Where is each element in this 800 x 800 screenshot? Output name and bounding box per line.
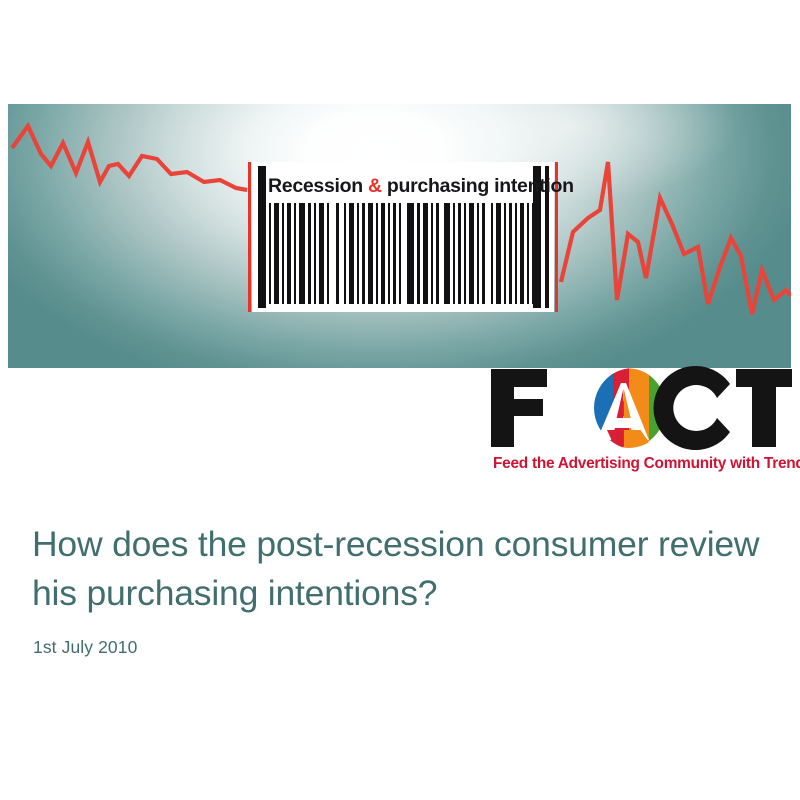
trend-line-left — [12, 126, 247, 190]
letter-f — [491, 369, 547, 447]
title-block: How does the post-recession consumer rev… — [32, 520, 762, 658]
barcode-graphic: Recession & purchasing intention — [246, 162, 560, 312]
trend-line-right — [561, 162, 791, 314]
barcode-heading: Recession & purchasing intention — [268, 171, 540, 201]
barcode-left-edge-line — [248, 162, 251, 312]
fact-tagline: Feed the Advertising Community with Tren… — [493, 454, 793, 474]
presentation-date: 1st July 2010 — [33, 636, 762, 658]
barcode-heading-left: Recession — [268, 175, 363, 197]
fact-logo: Feed the Advertising Community with Tren… — [489, 366, 794, 478]
fact-wordmark — [489, 366, 794, 450]
page-title: How does the post-recession consumer rev… — [32, 520, 762, 618]
barcode-heading-ampersand: & — [368, 175, 382, 197]
letter-c — [654, 366, 730, 450]
barcode-bars — [260, 203, 548, 304]
letter-t — [736, 369, 792, 447]
barcode-heading-right: purchasing intention — [387, 175, 574, 197]
hero-banner: Recession & purchasing intention — [8, 104, 791, 368]
